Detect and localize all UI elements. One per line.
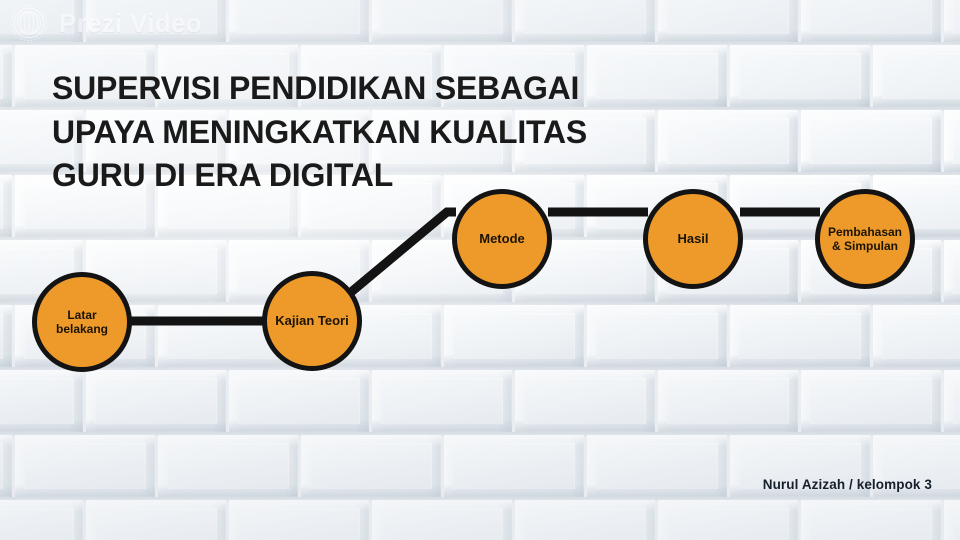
author-credit: Nurul Azizah / kelompok 3 bbox=[763, 477, 932, 492]
flow-node-kajian-teori[interactable]: Kajian Teori bbox=[262, 271, 362, 371]
flow-node-hasil[interactable]: Hasil bbox=[643, 189, 743, 289]
title-line-2: UPAYA MENINGKATKAN KUALITAS bbox=[52, 111, 587, 155]
flow-node-label-line-1: Pembahasan bbox=[828, 225, 902, 239]
flow-node-label-line-2: & Simpulan bbox=[832, 239, 898, 253]
flow-connector-kajian-teori-to-metode bbox=[350, 212, 456, 293]
prezi-video-watermark: Prezi Video bbox=[8, 2, 202, 44]
title-line-3: GURU DI ERA DIGITAL bbox=[52, 154, 587, 198]
flow-node-latar-belakang[interactable]: Latar belakang bbox=[32, 272, 132, 372]
watermark-label: Prezi Video bbox=[59, 8, 202, 39]
flow-node-label: Kajian Teori bbox=[271, 313, 352, 328]
title-line-1: SUPERVISI PENDIDIKAN SEBAGAI bbox=[52, 67, 587, 111]
flow-node-label: Latar belakang bbox=[37, 308, 127, 336]
prezi-sunburst-logo-icon bbox=[8, 2, 50, 44]
flow-node-label: Pembahasan& Simpulan bbox=[824, 225, 906, 253]
presentation-slide: Prezi Video SUPERVISI PENDIDIKAN SEBAGAI… bbox=[0, 0, 960, 540]
flow-node-pembahasan-simpulan[interactable]: Pembahasan& Simpulan bbox=[815, 189, 915, 289]
flow-node-label: Metode bbox=[475, 231, 529, 246]
flow-node-label: Hasil bbox=[673, 231, 712, 246]
flow-node-metode[interactable]: Metode bbox=[452, 189, 552, 289]
slide-title: SUPERVISI PENDIDIKAN SEBAGAI UPAYA MENIN… bbox=[52, 67, 587, 198]
